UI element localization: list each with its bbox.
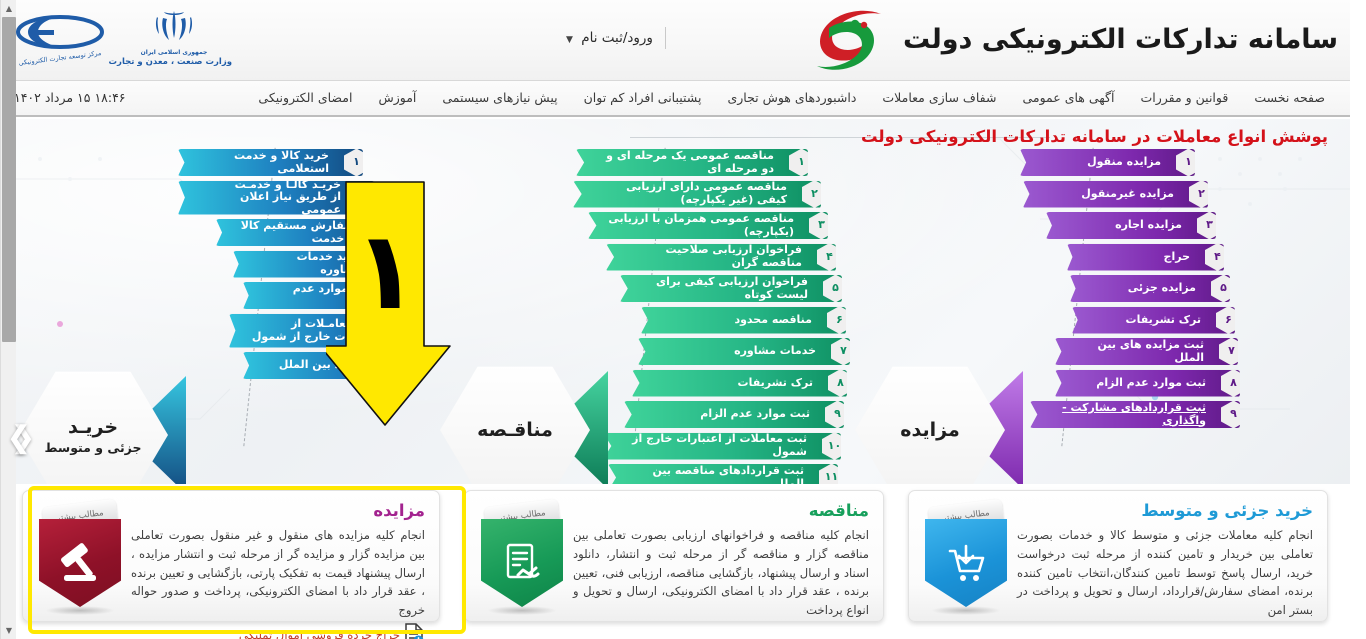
ecdc-swirl-icon <box>14 10 106 54</box>
monaghese-item-6[interactable]: مناقصه محدود۶ <box>641 307 846 334</box>
hexagon-mozayede-label: مزایده <box>855 364 1005 484</box>
kharid-item-1[interactable]: خرید کالا و خدمت استعلامی۱ <box>178 149 363 176</box>
column-mozayede: مزایده منقول۱ مزایده غیرمنقول۲ مزایده اج… <box>1010 149 1240 479</box>
hexagon-kharid-label: خریـد جزئی و متوسط <box>18 369 168 484</box>
current-datetime: ۱۸:۴۶ ۱۵ مرداد ۱۴۰۲ <box>14 90 126 105</box>
hexagon-monaghese: مناقـصه <box>440 364 590 484</box>
mozayede-item-6[interactable]: ترک تشریفات۶ <box>1072 307 1235 334</box>
scroll-up-arrow-icon[interactable]: ▲ <box>1 0 17 17</box>
vertical-scrollbar[interactable]: ▲ ▼ <box>0 0 16 639</box>
kharid-item-7[interactable]: ثبت خرید بین الملل۷ <box>243 352 418 379</box>
nav-item-bi-dashboards[interactable]: داشبوردهای هوش تجاری <box>714 81 869 115</box>
brand: سامانه تدارکات الکترونیکی دولت <box>807 8 1338 72</box>
nav-item-esignature[interactable]: امضای الکترونیکی <box>245 81 365 115</box>
monaghese-item-9[interactable]: ثبت موارد عدم الزام۹ <box>624 401 844 428</box>
monaghese-item-1[interactable]: مناقصه عمومی یک مرحله ای و دو مرحله ای۱ <box>576 149 808 176</box>
carousel-next-arrow[interactable]: ❯ <box>8 419 30 455</box>
card-kharid[interactable]: خرید جزئی و متوسط انجام کلیه معاملات جزئ… <box>908 490 1328 622</box>
chevron-down-icon: ▼ <box>566 35 573 45</box>
kharid-item-6[interactable]: ثبـت معامـلات از اعتبارات خارج از شمول۶ <box>229 314 414 348</box>
hexagon-kharid: خریـد جزئی و متوسط <box>18 369 168 484</box>
column-kharid: خرید کالا و خدمت استعلامی۱ خریـد کالـا و… <box>178 149 418 479</box>
hexagon-monaghese-main: مناقـصه <box>477 419 553 441</box>
monaghese-item-3[interactable]: مناقصه عمومی همزمان با ارزیابی (یکپارچه)… <box>588 212 828 239</box>
contract-handshake-icon <box>481 519 563 607</box>
monaghese-item-8[interactable]: ترک تشریفات۸ <box>632 370 847 397</box>
nav-item-transparency[interactable]: شفاف سازی معاملات <box>869 81 1009 115</box>
hexagon-kharid-sub: جزئی و متوسط <box>45 440 142 455</box>
scroll-down-arrow-icon[interactable]: ▼ <box>1 622 17 639</box>
monaghese-item-2[interactable]: مناقصه عمومی دارای ارزیابی کیفی (غیر یکپ… <box>573 181 821 208</box>
card-mozayede-link[interactable]: حراج خرده فروشی اموال تملیکی <box>239 628 400 639</box>
card-kharid-badge[interactable]: مطالب بیشتر <box>923 503 1009 611</box>
hexagon-mozayede-main: مزایده <box>900 419 959 441</box>
mozayede-item-9[interactable]: ثبت قراردادهای مشارکت - واگذاری۹ <box>1030 401 1240 428</box>
monaghese-item-7[interactable]: خدمات مشاوره۷ <box>638 338 850 365</box>
kharid-item-2[interactable]: خریـد کالـا و خدمـت از طریق نیاز اعلان ع… <box>178 181 375 215</box>
cart-download-icon <box>925 519 1007 607</box>
header-divider <box>665 27 666 49</box>
hexagon-kharid-main: خریـد <box>68 416 118 438</box>
kharid-item-5[interactable]: ثبت موارد عدم الزام۵ <box>243 282 406 309</box>
nav-item-home[interactable]: صفحه نخست <box>1241 81 1338 115</box>
login-area[interactable]: ورود/ثبت نام ▼ <box>566 27 666 49</box>
nav-item-accessibility[interactable]: پشتیبانی افراد کم توان <box>571 81 715 115</box>
monaghese-item-4[interactable]: فراخوان ارزیابی صلاحیت مناقصه گران۴ <box>606 244 836 271</box>
card-mozayede-link-row[interactable]: حراج خرده فروشی اموال تملیکی <box>35 623 425 639</box>
nav-item-requirements[interactable]: پیش نیازهای سیستمی <box>429 81 570 115</box>
card-mozayede-badge-shadow <box>45 606 115 615</box>
nav-item-public-notices[interactable]: آگهی های عمومی <box>1009 81 1127 115</box>
monaghese-item-10[interactable]: ثبت معاملات از اعتبارات خارج از شمول۱۰ <box>603 433 841 460</box>
login-register-label: ورود/ثبت نام <box>581 30 653 46</box>
card-mozayede-badge[interactable]: مطالب بیشتر <box>37 503 123 611</box>
card-kharid-badge-shadow <box>931 606 1001 615</box>
card-monaghese[interactable]: مناقصه انجام کلیه مناقصه و فراخوانهای ار… <box>464 490 884 622</box>
card-monaghese-body: انجام کلیه مناقصه و فراخوانهای ارزیابی ب… <box>573 526 869 620</box>
mozayede-item-4[interactable]: حراج۴ <box>1067 244 1224 271</box>
scrollbar-thumb[interactable] <box>2 17 16 342</box>
page-title: سامانه تدارکات الکترونیکی دولت <box>903 24 1338 56</box>
setadiran-logo-icon <box>807 8 893 72</box>
ecdc-logo: مرکز توسعه تجارت الکترونیکی <box>8 6 112 62</box>
mozayede-item-1[interactable]: مزایده منقول۱ <box>1020 149 1195 176</box>
gavel-icon <box>39 519 121 607</box>
service-cards: خرید جزئی و متوسط انجام کلیه معاملات جزئ… <box>0 484 1350 639</box>
card-mozayede-body: انجام کلیه مزایده های منقول و غیر منقول … <box>131 526 425 620</box>
document-info-icon <box>404 623 425 639</box>
nav-item-laws[interactable]: قوانین و مقررات <box>1127 81 1241 115</box>
mozayede-item-7[interactable]: ثبت مزایده های بین الملل۷ <box>1055 338 1238 365</box>
iran-emblem-icon <box>152 8 196 48</box>
ministry-line1: جمهوری اسلامی ایران <box>116 49 232 57</box>
column-monaghese: مناقصه عمومی یک مرحله ای و دو مرحله ای۱ … <box>570 149 850 479</box>
mozayede-item-2[interactable]: مزایده غیرمنقول۲ <box>1023 181 1208 208</box>
hexagon-monaghese-label: مناقـصه <box>440 364 590 484</box>
card-kharid-body: انجام کلیه معاملات جزئی و متوسط کالا و خ… <box>1017 526 1313 620</box>
page-root: سامانه تدارکات الکترونیکی دولت ورود/ثبت … <box>0 0 1366 639</box>
kharid-item-4[interactable]: خرید خدمات مشاوره۴ <box>233 251 396 278</box>
mozayede-item-8[interactable]: ثبت موارد عدم الزام۸ <box>1055 370 1240 397</box>
government-logos: جمهوری اسلامی ایران وزارت صنعت ، معدن و … <box>8 6 238 76</box>
mozayede-item-5[interactable]: مزایده جزئی۵ <box>1070 275 1230 302</box>
kharid-item-3[interactable]: سفارش مستقیم کالا و خدمت۳ <box>216 219 389 246</box>
transactions-infographic: پوشش انواع معاملات در سامانه تدارکات الک… <box>0 119 1350 484</box>
card-monaghese-badge[interactable]: مطالب بیشتر <box>479 503 565 611</box>
nav-item-training[interactable]: آموزش <box>365 81 429 115</box>
ministry-line2: وزارت صنعت ، معدن و تجارت <box>116 57 232 67</box>
infographic-title: پوشش انواع معاملات در سامانه تدارکات الک… <box>861 127 1328 146</box>
site-header: سامانه تدارکات الکترونیکی دولت ورود/ثبت … <box>0 0 1350 81</box>
card-mozayede[interactable]: مزایده انجام کلیه مزایده های منقول و غیر… <box>22 490 440 622</box>
monaghese-item-11[interactable]: ثبت قراردادهای مناقصه بین الملل۱۱ <box>608 464 838 484</box>
hexagon-mozayede: مزایده <box>855 364 1005 484</box>
mozayede-item-3[interactable]: مزایده اجاره۳ <box>1046 212 1216 239</box>
monaghese-item-5[interactable]: فراخوان ارزیابی کیفی برای لیست کوتاه۵ <box>620 275 842 302</box>
card-monaghese-badge-shadow <box>487 606 557 615</box>
login-register-link[interactable]: ورود/ثبت نام ▼ <box>566 30 653 46</box>
main-navigation: صفحه نخست قوانین و مقررات آگهی های عمومی… <box>0 81 1350 117</box>
ministry-logo: جمهوری اسلامی ایران وزارت صنعت ، معدن و … <box>116 6 232 67</box>
